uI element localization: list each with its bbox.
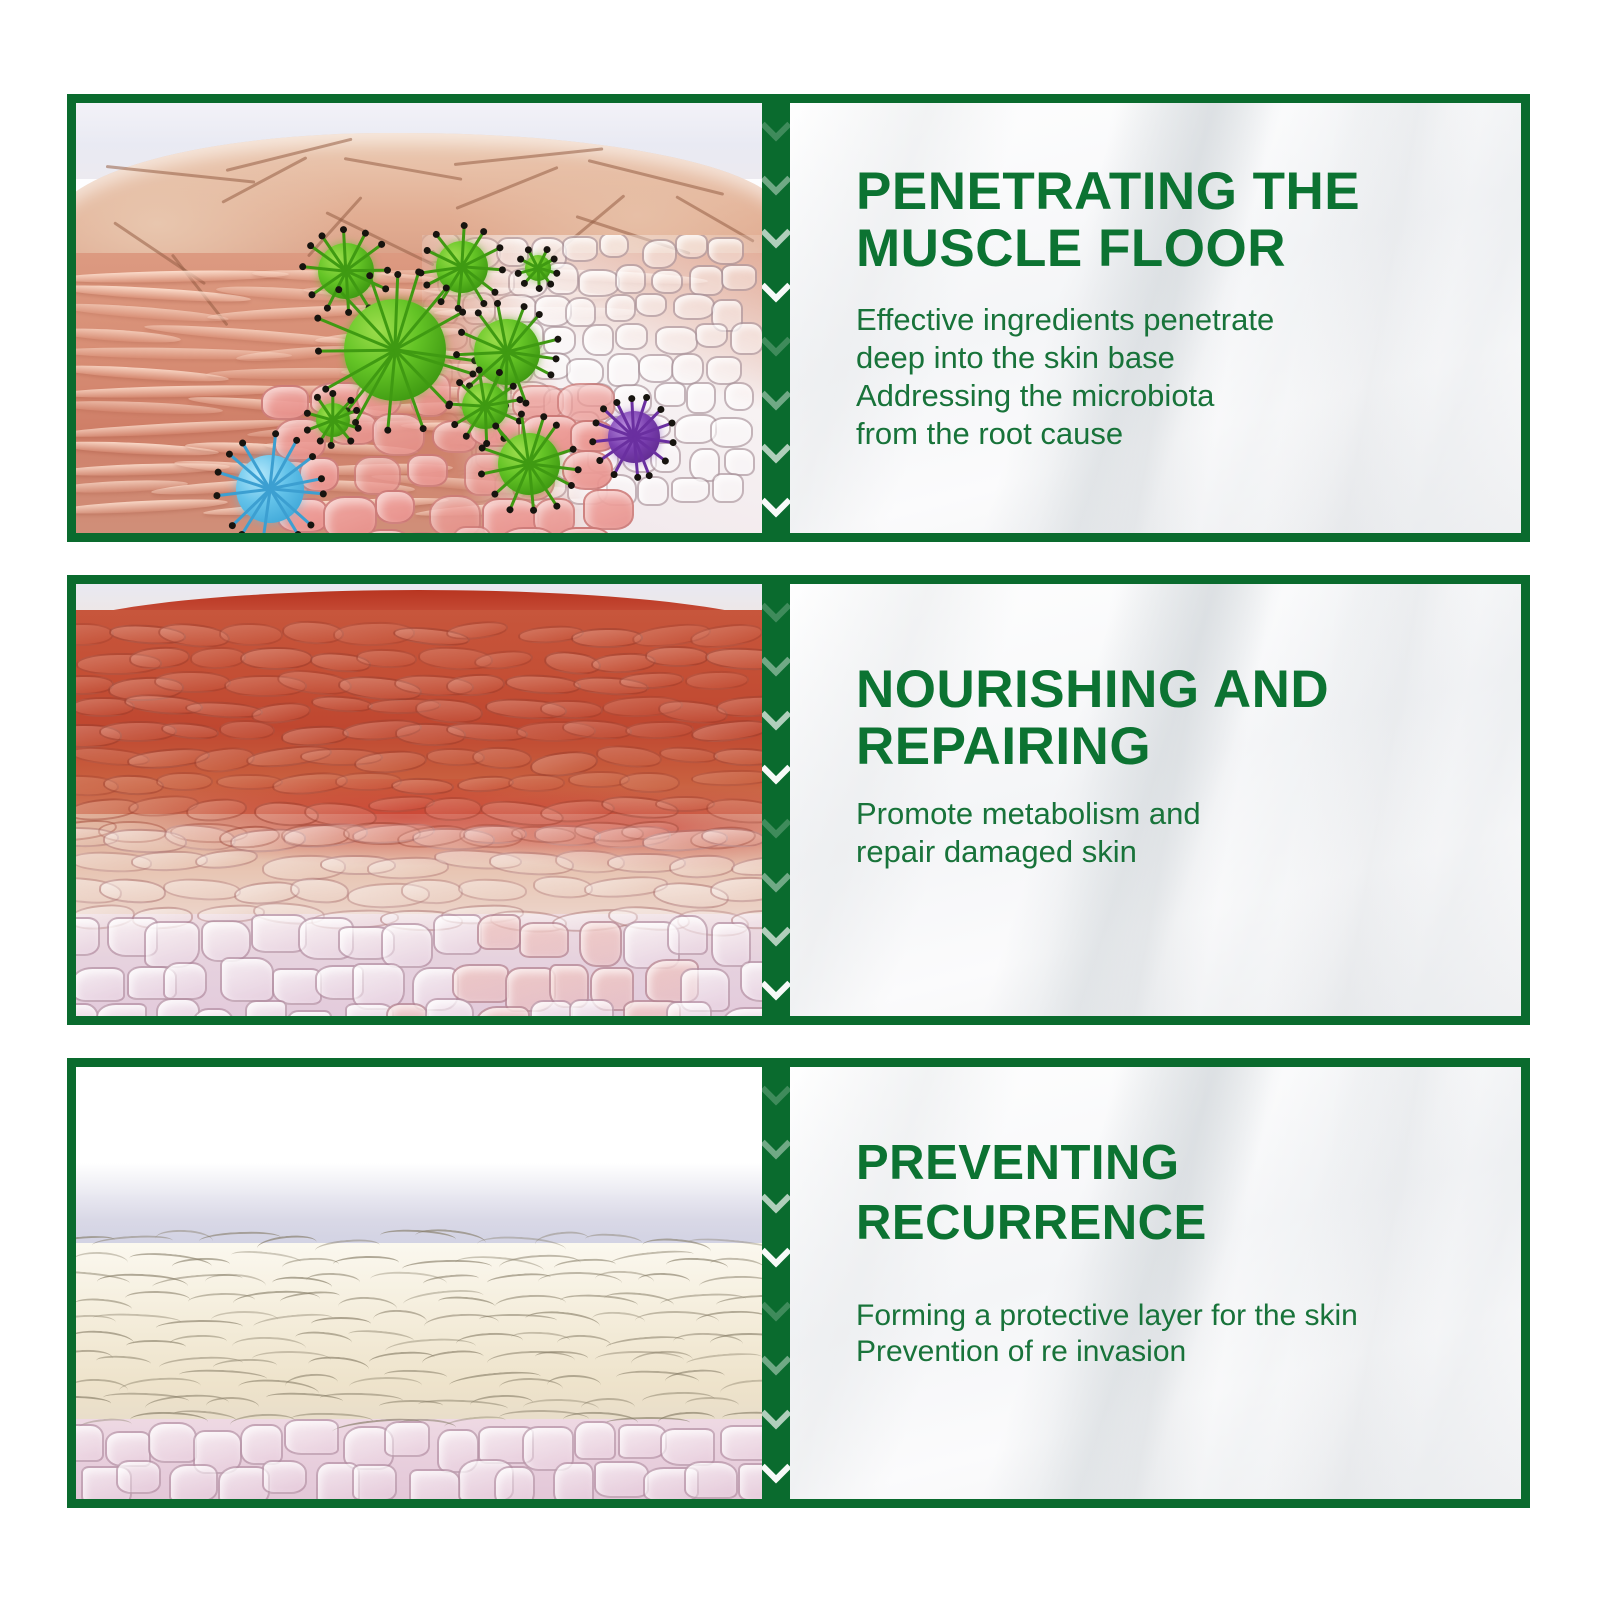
basal-cell	[76, 967, 125, 1002]
basal-cell	[494, 1466, 536, 1499]
basal-cell	[519, 922, 569, 958]
panel-title: PREVENTING RECURRENCE	[856, 1134, 1521, 1254]
microbe-green	[474, 319, 540, 385]
chevron-down-icon	[762, 1236, 790, 1267]
basal-cell	[579, 921, 623, 967]
epidermal-cell	[496, 237, 528, 267]
basal-cell	[96, 1003, 147, 1016]
basal-cell	[386, 1003, 429, 1016]
panel-body: Forming a protective layer for the skin …	[856, 1298, 1521, 1371]
epidermal-cell	[673, 293, 715, 320]
title-line: RECURRENCE	[856, 1194, 1521, 1254]
epidermal-cell	[689, 265, 724, 296]
epidermal-cell	[578, 269, 621, 297]
basal-cell	[76, 917, 100, 955]
epidermal-cell	[671, 477, 710, 503]
epidermal-cell	[605, 294, 636, 323]
spinous-cell	[452, 526, 492, 533]
epidermal-cell	[615, 323, 647, 350]
epidermal-cell	[686, 382, 717, 414]
spinous-cell	[261, 385, 309, 420]
epidermal-cell	[599, 232, 630, 258]
spinous-cell	[375, 490, 415, 524]
basal-cell	[569, 999, 614, 1016]
microbe-green	[344, 299, 446, 401]
basal-cell	[262, 1460, 307, 1494]
body-line: deep into the skin base	[856, 339, 1521, 377]
basal-cell	[684, 1461, 737, 1499]
spinous-cell	[323, 496, 378, 533]
epidermal-cell	[565, 297, 596, 327]
epidermal-cell	[635, 293, 668, 318]
chevron-down-icon	[762, 1074, 790, 1105]
basal-cell	[720, 1425, 762, 1462]
body-line: Forming a protective layer for the skin	[856, 1298, 1521, 1335]
basal-cell	[352, 1464, 397, 1499]
chevron-down-icon	[762, 325, 790, 356]
chevron-down-icon	[762, 861, 790, 892]
infographic-root: PENETRATING THE MUSCLE FLOOR Effective i…	[0, 0, 1600, 1600]
microbe-blue	[236, 455, 304, 523]
body-line: from the root cause	[856, 415, 1521, 453]
chevron-down-icon	[762, 1182, 790, 1213]
panel-title: PENETRATING THE MUSCLE FLOOR	[856, 163, 1521, 277]
basal-cell	[409, 1469, 461, 1499]
microbe-green	[318, 243, 374, 299]
chevron-down-icon	[762, 807, 790, 838]
chevron-down-icon	[762, 753, 790, 784]
corneocyte-flake	[685, 1396, 739, 1413]
illustration-infected-skin	[76, 103, 762, 533]
basal-cell	[169, 1464, 218, 1499]
epidermal-cell	[710, 417, 754, 448]
corneocyte	[219, 622, 283, 646]
basal-cell	[433, 914, 482, 955]
basal-cell	[667, 915, 707, 955]
panel-body: Promote metabolism and repair damaged sk…	[856, 795, 1521, 871]
chevron-down-icon	[762, 699, 790, 730]
basal-cell	[384, 1421, 430, 1457]
chevron-down-strip	[762, 1067, 790, 1499]
body-line: Promote metabolism and	[856, 795, 1521, 833]
chevron-down-icon	[762, 433, 790, 464]
chevron-down-icon	[762, 591, 790, 622]
epidermal-cell	[675, 233, 709, 259]
panel-text-area: PENETRATING THE MUSCLE FLOOR Effective i…	[790, 103, 1521, 533]
corneocyte	[619, 772, 680, 794]
chevron-down-icon	[762, 218, 790, 249]
body-line: repair damaged skin	[856, 833, 1521, 871]
chevron-down-icon	[762, 1128, 790, 1159]
epidermal-cell	[724, 382, 755, 411]
chevron-down-strip	[762, 584, 790, 1016]
basal-cell	[738, 1463, 762, 1499]
chevron-down-icon	[762, 969, 790, 1000]
basal-cell	[477, 914, 521, 950]
basal-cell	[574, 1421, 616, 1460]
epidermal-cell	[637, 476, 670, 506]
chevron-down-icon	[762, 1398, 790, 1429]
epidermal-cell	[651, 269, 682, 295]
epidermal-cell	[706, 356, 742, 385]
corneocyte	[156, 772, 213, 791]
epidermal-cell	[562, 236, 599, 262]
basal-cell	[284, 1419, 339, 1455]
spinous-cell	[407, 454, 448, 486]
chevron-down-icon	[762, 1344, 790, 1375]
chevron-down-icon	[762, 487, 790, 518]
panel-body: Effective ingredients penetrate deep int…	[856, 301, 1521, 452]
basal-cell	[287, 1010, 332, 1016]
corneocyte-flake	[311, 1317, 371, 1331]
corneocyte-flake	[546, 1375, 600, 1396]
basal-cell	[553, 1462, 593, 1499]
basal-cell	[245, 1000, 287, 1016]
basal-cell	[116, 1460, 161, 1494]
basal-cell	[666, 1001, 712, 1016]
basal-cell	[163, 962, 206, 1000]
title-line: PREVENTING	[856, 1134, 1521, 1194]
basal-cell	[148, 1422, 197, 1463]
microbe-green	[498, 433, 560, 495]
epidermal-cell	[654, 382, 685, 407]
basal-cell	[740, 961, 762, 1002]
epidermal-cell	[607, 353, 640, 387]
epidermal-cell	[730, 322, 762, 356]
body-line: Addressing the microbiota	[856, 377, 1521, 415]
epidermal-cell	[671, 353, 704, 384]
corneocyte	[508, 774, 565, 792]
feature-panel-preventing: PREVENTING RECURRENCE Forming a protecti…	[67, 1058, 1530, 1508]
microbe-purple	[608, 411, 660, 463]
chevron-down-strip	[762, 103, 790, 533]
body-line: Effective ingredients penetrate	[856, 301, 1521, 339]
basal-cell	[711, 922, 751, 966]
basal-cell	[156, 998, 200, 1016]
epidermal-cell	[642, 239, 677, 269]
title-line: REPAIRING	[856, 718, 1521, 775]
panel-title: NOURISHING AND REPAIRING	[856, 661, 1521, 775]
spinous-cell	[583, 489, 634, 530]
epidermal-cell	[724, 448, 755, 476]
chevron-down-icon	[762, 164, 790, 195]
microbe-green	[462, 383, 508, 429]
epidermal-cell	[707, 237, 744, 265]
microbe-green	[525, 255, 551, 281]
basal-cell	[220, 957, 274, 1002]
basal-cell	[530, 1000, 574, 1016]
chevron-down-icon	[762, 1452, 790, 1483]
basal-cell	[594, 1461, 649, 1498]
basal-cell	[425, 998, 474, 1016]
epidermal-cell	[638, 354, 674, 384]
illustration-inflamed-skin	[76, 584, 762, 1016]
illustration-healthy-skin	[76, 1067, 762, 1499]
title-line: MUSCLE FLOOR	[856, 220, 1521, 277]
title-line: PENETRATING THE	[856, 163, 1521, 220]
chevron-down-icon	[762, 1290, 790, 1321]
title-line: NOURISHING AND	[856, 661, 1521, 718]
panel-text-area: NOURISHING AND REPAIRING Promote metabol…	[790, 584, 1521, 1016]
epidermal-cell	[712, 473, 744, 503]
microbe-green	[316, 403, 350, 437]
basal-cell	[660, 1428, 714, 1466]
chevron-down-icon	[762, 379, 790, 410]
basal-cell	[381, 923, 432, 967]
epidermal-cell	[615, 264, 646, 294]
basal-cell	[76, 1424, 104, 1462]
corneocyte-pale	[400, 878, 463, 905]
chevron-down-icon	[762, 645, 790, 676]
feature-panel-penetrating: PENETRATING THE MUSCLE FLOOR Effective i…	[67, 94, 1530, 542]
epidermal-cell	[546, 262, 579, 295]
feature-panel-nourishing: NOURISHING AND REPAIRING Promote metabol…	[67, 575, 1530, 1025]
epidermal-cell	[582, 324, 615, 357]
chevron-down-icon	[762, 110, 790, 141]
chevron-down-icon	[762, 915, 790, 946]
epidermal-cell	[655, 326, 698, 355]
panel-text-area: PREVENTING RECURRENCE Forming a protecti…	[790, 1067, 1521, 1499]
chevron-down-icon	[762, 272, 790, 303]
body-line: Prevention of re invasion	[856, 1334, 1521, 1371]
epidermal-cell	[721, 264, 757, 291]
epidermal-cell	[695, 323, 728, 348]
spinous-cell	[372, 413, 425, 456]
